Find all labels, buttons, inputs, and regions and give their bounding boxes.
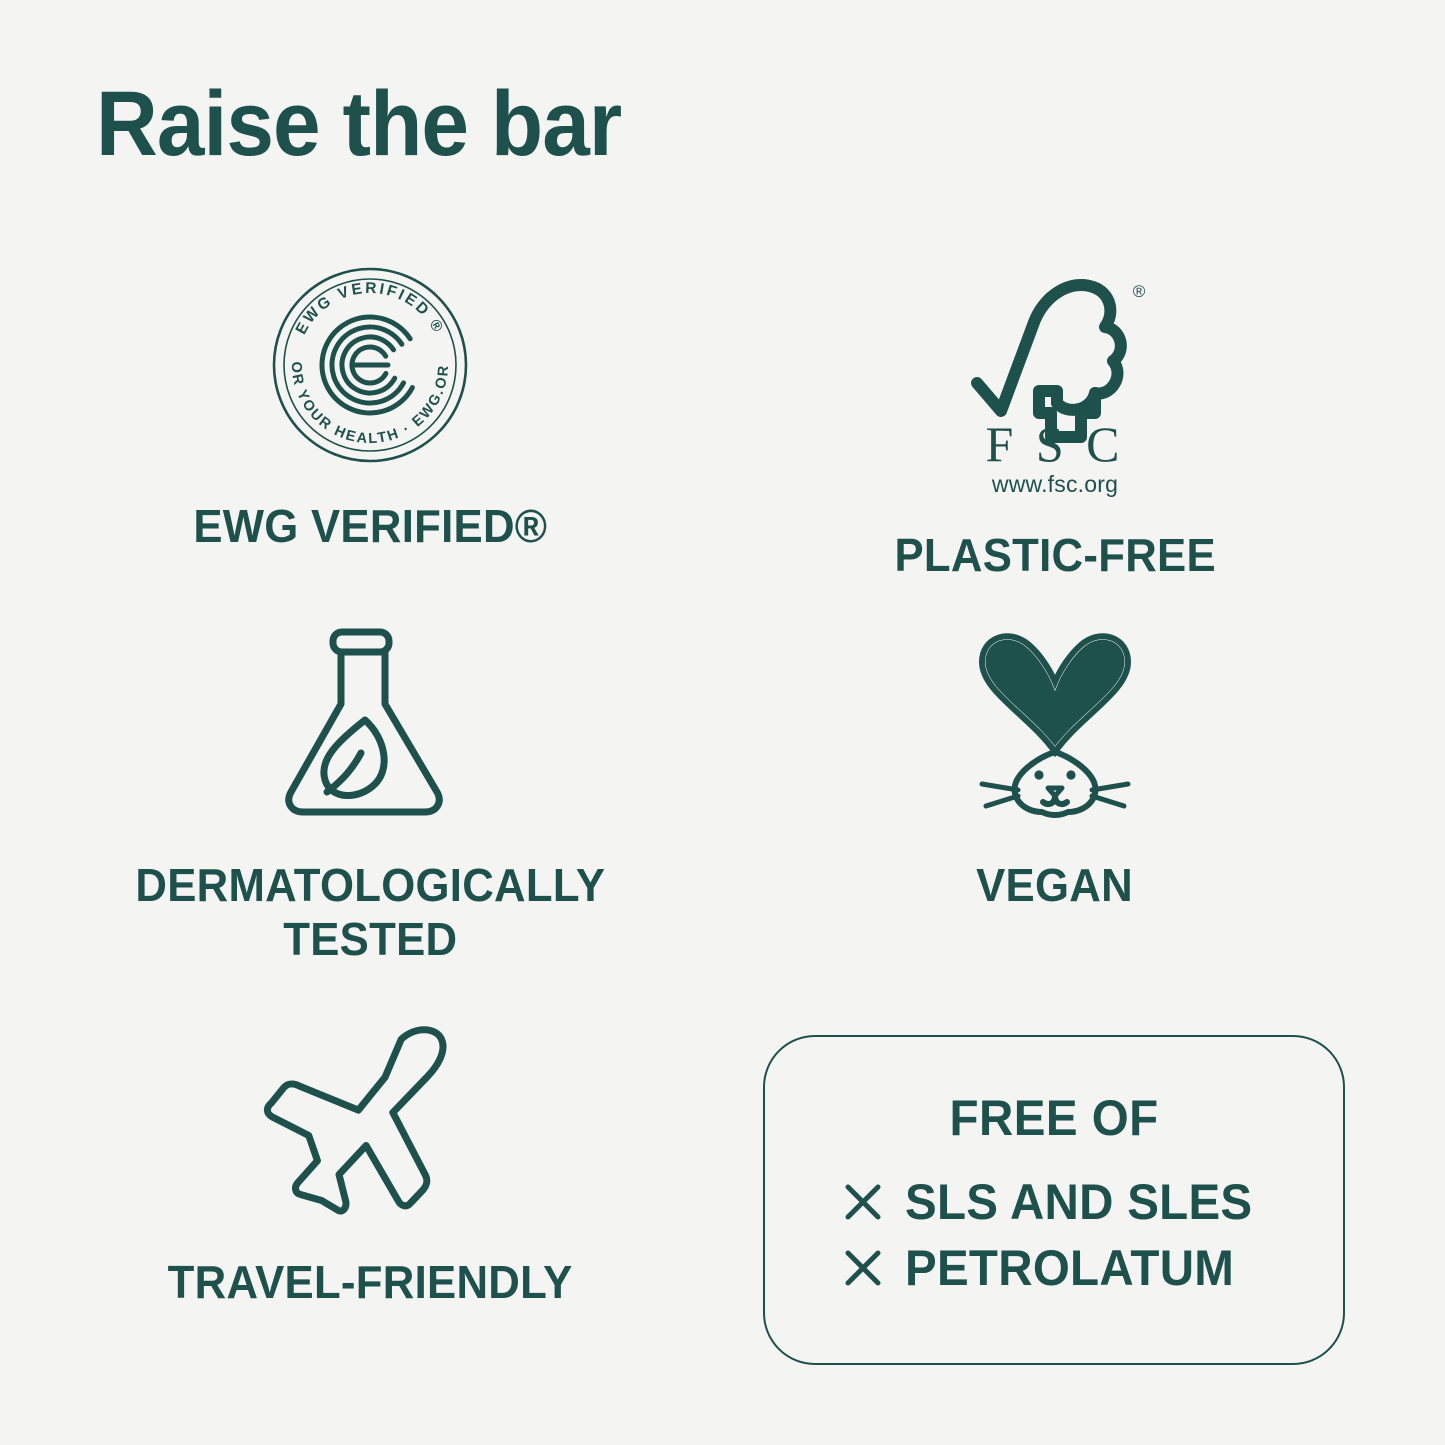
list-item: PETROLATUM [843, 1239, 1271, 1297]
fsc-url: www.fsc.org [992, 471, 1118, 498]
airplane-icon [260, 1025, 480, 1225]
x-icon [843, 1248, 883, 1288]
badge-travel-friendly: TRAVEL-FRIENDLY [60, 1025, 680, 1309]
badge-ewg-verified: EWG VERIFIED ® FOR YOUR HEALTH · EWG.ORG [60, 265, 680, 553]
free-of-box: FREE OF SLS AND SLES PETROLATUM [763, 1035, 1345, 1365]
fsc-acronym: F S C [986, 416, 1125, 472]
bunny-heart-ears-icon [960, 620, 1150, 820]
list-item: SLS AND SLES [843, 1173, 1271, 1231]
badge-label: TRAVEL-FRIENDLY [168, 1255, 573, 1309]
free-of-title: FREE OF [949, 1089, 1158, 1147]
ewg-verified-seal-icon: EWG VERIFIED ® FOR YOUR HEALTH · EWG.ORG [270, 265, 470, 465]
page-title: Raise the bar [96, 78, 621, 170]
fsc-tree-checkmark-icon: ® F S C [955, 265, 1155, 475]
x-icon [843, 1182, 883, 1222]
badge-plastic-free: ® F S C www.fsc.org PLASTIC-FREE [745, 265, 1365, 582]
badge-label: EWG VERIFIED® [193, 499, 547, 553]
badge-vegan: VEGAN [745, 620, 1365, 912]
free-of-item-label: PETROLATUM [905, 1239, 1234, 1297]
free-of-item-label: SLS AND SLES [905, 1173, 1252, 1231]
product-claims-panel: Raise the bar EWG VERIFIED ® FOR YOUR HE… [0, 0, 1445, 1445]
badge-label: DERMATOLOGICALLY TESTED [135, 858, 605, 967]
badge-label: PLASTIC-FREE [894, 528, 1215, 582]
badge-label: VEGAN [977, 858, 1134, 912]
flask-leaf-icon [275, 620, 465, 820]
badge-dermatologically-tested: DERMATOLOGICALLY TESTED [60, 620, 680, 967]
svg-text:®: ® [1133, 282, 1146, 301]
free-of-list: SLS AND SLES PETROLATUM [843, 1173, 1271, 1297]
